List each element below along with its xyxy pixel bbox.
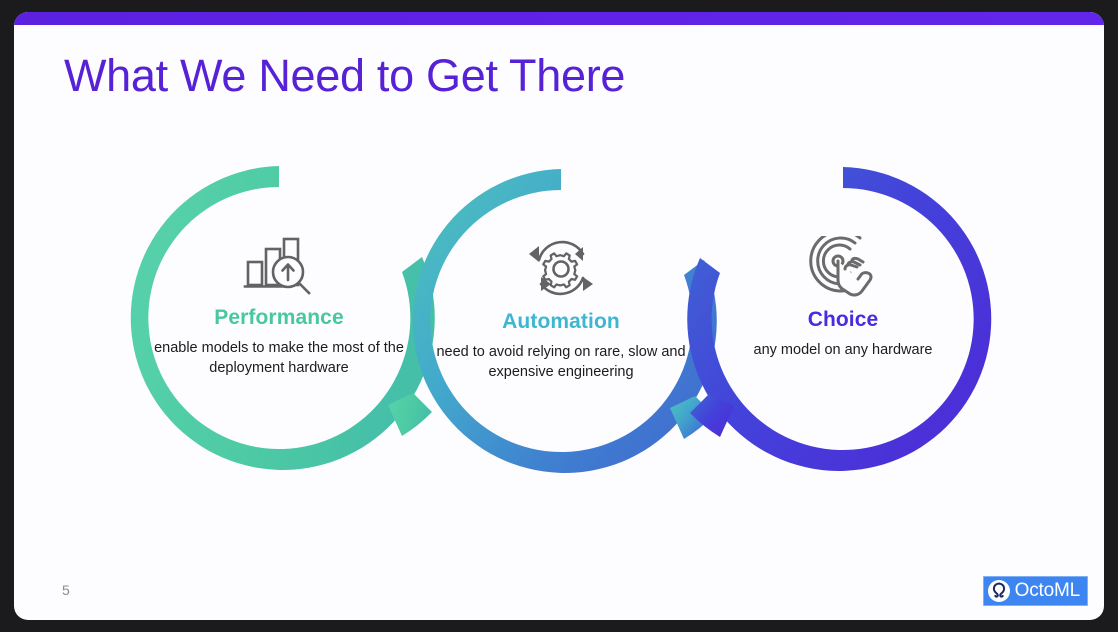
node-heading: Performance	[154, 306, 404, 330]
octopus-icon	[988, 580, 1010, 602]
slide-canvas: What We Need to Get There	[14, 12, 1104, 620]
octoml-wordmark: OctoML	[1015, 581, 1080, 602]
bar-chart-magnifier-icon	[154, 230, 404, 296]
node-automation[interactable]: Automation need to avoid relying on rare…	[436, 234, 686, 382]
node-description: any model on any hardware	[718, 340, 968, 360]
node-performance[interactable]: Performance enable models to make the mo…	[154, 230, 404, 378]
gear-refresh-icon	[436, 234, 686, 300]
node-description: need to avoid relying on rare, slow and …	[436, 342, 686, 382]
page-number: 5	[62, 582, 70, 598]
octoml-logo[interactable]: OctoML	[983, 576, 1088, 606]
node-heading: Choice	[718, 308, 968, 332]
node-heading: Automation	[436, 310, 686, 334]
node-choice[interactable]: Choice any model on any hardware	[718, 232, 968, 360]
slide-viewer: What We Need to Get There	[0, 0, 1118, 632]
node-description: enable models to make the most of the de…	[154, 338, 404, 378]
tap-hand-icon	[718, 232, 968, 298]
